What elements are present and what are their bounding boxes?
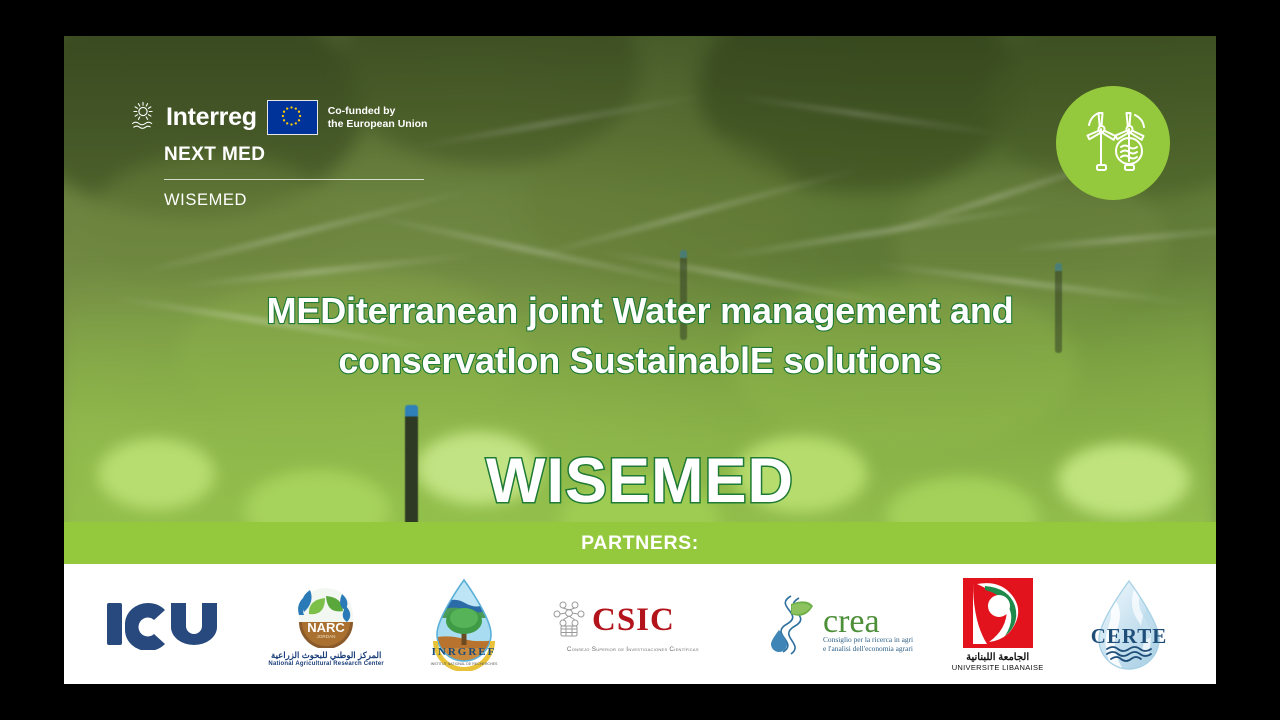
interreg-sun-waves-icon — [130, 100, 156, 135]
partner-logo-crea[interactable]: crea Consiglio per la ricerca in agricol… — [761, 592, 913, 656]
certe-water-droplet-logo: CERTE — [1083, 577, 1175, 671]
interreg-wordmark: Interreg — [166, 105, 257, 130]
project-acronym: WISEMED — [64, 450, 1216, 513]
partner-logo-narc[interactable]: NARC JORDAN المركز الوطني للبحوث الزراعي… — [268, 582, 384, 667]
partner-logo-universite-libanaise[interactable]: الجامعة اللبنانية UNIVERSITE LIBANAISE — [952, 576, 1044, 672]
crea-leaf-droplet-logo: crea Consiglio per la ricerca in agricol… — [761, 592, 913, 656]
inrgref-droplet-tree-logo: INRGREF INSTITUT NATIONAL DE RECHERCHES — [423, 577, 505, 671]
icu-logo — [105, 598, 229, 650]
presentation-slide: Interreg — [64, 36, 1216, 684]
inrgref-wordmark: INRGREF — [432, 646, 497, 658]
csic-emblem: CSIC — [544, 596, 722, 644]
partners-logo-strip: NARC JORDAN المركز الوطني للبحوث الزراعي… — [64, 564, 1216, 684]
universite-libanaise-caption-arabic: الجامعة اللبنانية — [966, 652, 1029, 663]
partner-logo-csic[interactable]: CSIC Consejo Superior de Investigaciones… — [544, 596, 722, 653]
eu-funding-text: Co-funded by the European Union — [328, 105, 428, 131]
interreg-logo-block: Interreg — [130, 100, 430, 210]
svg-text:Consiglio per la ricerca in ag: Consiglio per la ricerca in agricoltura — [823, 635, 913, 644]
narc-caption-english: National Agricultural Research Center — [268, 661, 384, 667]
svg-text:e l'analisi dell'economia a: e l'analisi dell'economia agraria — [823, 644, 913, 653]
partner-logo-certe[interactable]: CERTE — [1083, 577, 1175, 671]
certe-wordmark: CERTE — [1090, 624, 1167, 648]
svg-text:INSTITUT NATIONAL DE RECHERCHE: INSTITUT NATIONAL DE RECHERCHES — [430, 662, 497, 666]
narc-wordmark: NARC — [307, 620, 345, 635]
partner-logo-inrgref[interactable]: INRGREF INSTITUT NATIONAL DE RECHERCHES — [423, 577, 505, 671]
svg-text:JORDAN: JORDAN — [317, 634, 336, 639]
page-title: MEDiterranean joint Water management and… — [64, 286, 1216, 385]
wind-turbine-water-icon — [1071, 99, 1155, 188]
interreg-programme-name: NEXT MED — [164, 144, 430, 166]
partner-logo-icu[interactable] — [105, 598, 229, 650]
universite-libanaise-caption-english: UNIVERSITE LIBANAISE — [952, 663, 1044, 672]
slide-stage: Interreg — [0, 0, 1280, 720]
lebanese-university-logo — [955, 576, 1041, 652]
eu-flag-icon — [267, 100, 318, 135]
partners-label: PARTNERS: — [581, 532, 699, 555]
csic-wordmark: CSIC — [592, 602, 675, 638]
interreg-divider — [164, 179, 424, 180]
partners-bar: PARTNERS: — [64, 522, 1216, 564]
csic-caption: Consejo Superior de Investigaciones Cien… — [567, 646, 699, 653]
wisemed-badge — [1056, 86, 1170, 200]
narc-leaf-dna-logo: NARC JORDAN — [280, 582, 372, 648]
narc-caption-arabic: المركز الوطني للبحوث الزراعية — [271, 650, 381, 661]
interreg-project-name: WISEMED — [164, 191, 430, 210]
